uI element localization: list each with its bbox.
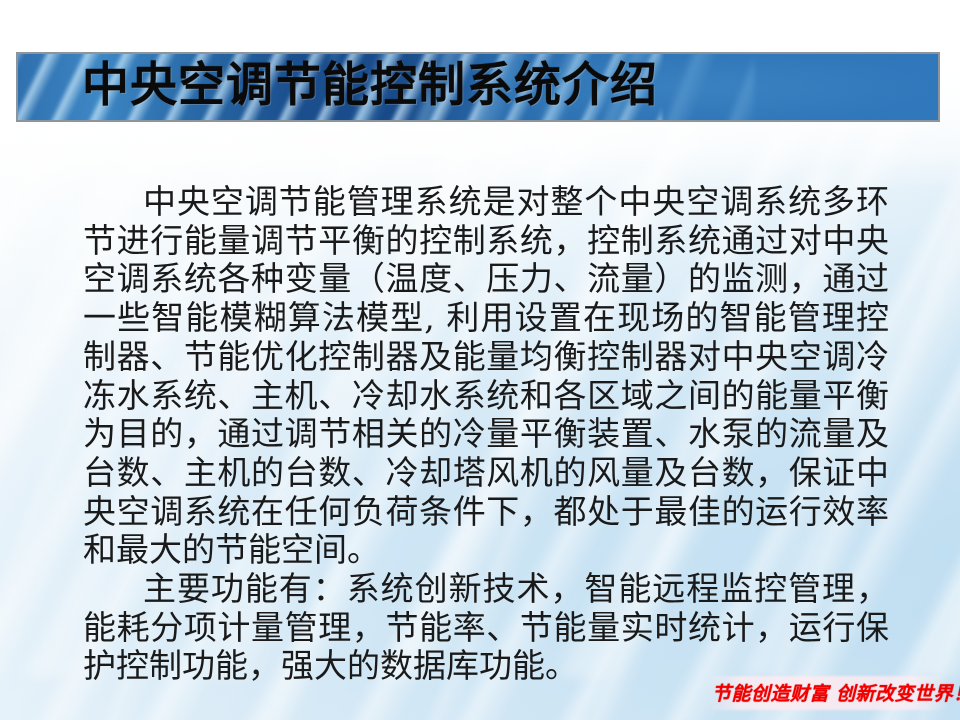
- body-paragraph-2: 主要功能有：系统创新技术，智能远程监控管理，能耗分项计量管理，节能率、节能量实时…: [83, 570, 889, 686]
- footer-slogan: 节能创造财富 创新改变世界！: [712, 681, 948, 707]
- body-content: 中央空调节能管理系统是对整个中央空调系统多环节进行能量调节平衡的控制系统，控制系…: [83, 183, 889, 686]
- page-title: 中央空调节能控制系统介绍: [82, 54, 658, 120]
- body-paragraph-1: 中央空调节能管理系统是对整个中央空调系统多环节进行能量调节平衡的控制系统，控制系…: [83, 183, 889, 570]
- title-banner: 中央空调节能控制系统介绍: [16, 52, 940, 122]
- slide-canvas: 中央空调节能控制系统介绍 中央空调节能管理系统是对整个中央空调系统多环节进行能量…: [0, 0, 960, 720]
